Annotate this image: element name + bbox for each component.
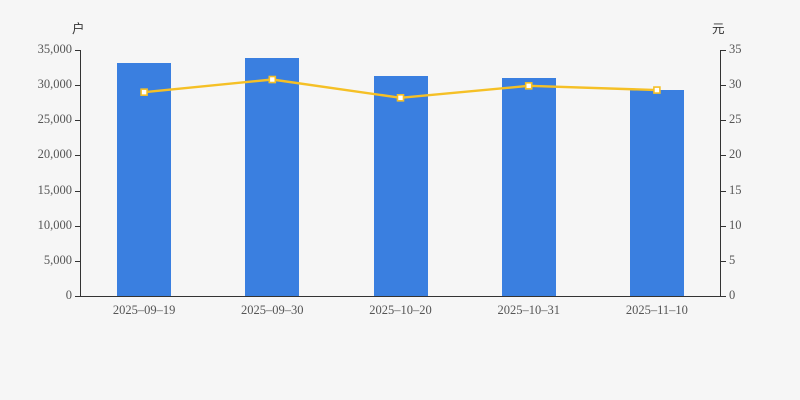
line-marker[interactable]: [526, 83, 532, 89]
left-axis-tick-label: 10,000: [38, 219, 72, 232]
left-axis-tick-label: 15,000: [38, 184, 72, 197]
right-axis-tick: [721, 296, 726, 297]
left-axis-tick-label: 35,000: [38, 43, 72, 56]
x-axis-category-label: 2025–10–31: [465, 303, 593, 318]
right-axis-tick: [721, 226, 726, 227]
right-axis-unit-label: 元: [712, 18, 725, 37]
left-axis-tick-label: 30,000: [38, 78, 72, 91]
left-axis-tick-label: 20,000: [38, 148, 72, 161]
chart-container: 户 元 05,00010,00015,00020,00025,00030,000…: [0, 0, 800, 400]
line-marker[interactable]: [269, 77, 275, 83]
x-axis-category-label: 2025–10–20: [336, 303, 464, 318]
left-axis-tick-label: 0: [66, 289, 72, 302]
left-axis-tick: [75, 296, 80, 297]
left-axis-tick-label: 25,000: [38, 113, 72, 126]
line-marker[interactable]: [398, 95, 404, 101]
right-axis-tick-label: 35: [729, 43, 742, 56]
right-axis-tick: [721, 50, 726, 51]
right-axis-tick-label: 30: [729, 78, 742, 91]
right-axis-tick: [721, 155, 726, 156]
right-axis-tick-label: 15: [729, 184, 742, 197]
right-axis-tick-label: 20: [729, 148, 742, 161]
x-axis-category-label: 2025–09–19: [80, 303, 208, 318]
right-axis-tick-label: 10: [729, 219, 742, 232]
line-marker[interactable]: [654, 87, 660, 93]
left-axis-tick-label: 5,000: [44, 254, 72, 267]
right-axis-tick: [721, 261, 726, 262]
right-axis-tick: [721, 191, 726, 192]
x-axis-category-label: 2025–11–10: [593, 303, 721, 318]
right-axis-tick-label: 25: [729, 113, 742, 126]
line-series-overlay: [80, 50, 721, 296]
line-marker[interactable]: [141, 89, 147, 95]
x-axis-line: [80, 296, 721, 297]
left-axis-unit-label: 户: [72, 18, 85, 37]
right-axis-tick-label: 0: [729, 289, 735, 302]
right-axis-tick: [721, 120, 726, 121]
right-axis-tick: [721, 85, 726, 86]
right-axis-tick-label: 5: [729, 254, 735, 267]
x-axis-category-label: 2025–09–30: [208, 303, 336, 318]
